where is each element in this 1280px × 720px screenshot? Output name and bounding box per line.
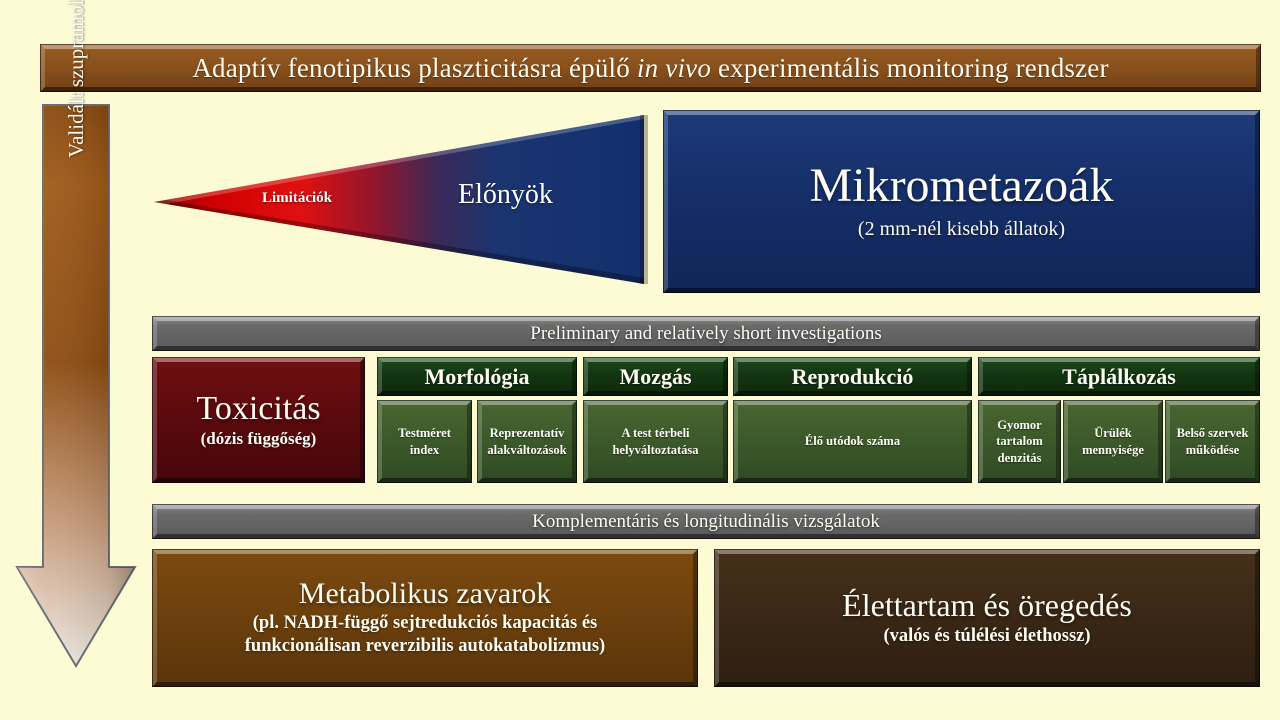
metabolic-disorders-box: Metabolikus zavarok (pl. NADH-függő sejt…	[152, 549, 698, 687]
group-item-label: Ürülék mennyisége	[1068, 425, 1158, 458]
diagram-title: Adaptív fenotipikus plaszticitásra épülő…	[192, 53, 1108, 84]
group-header-reprodukcio: Reprodukció	[733, 357, 972, 396]
complementary-investigations-band: Komplementáris és longitudinális vizsgál…	[152, 504, 1260, 539]
group-header-label: Reprodukció	[792, 364, 914, 390]
group-item-label: Élő utódok száma	[805, 433, 900, 450]
funnel-shape-icon	[152, 112, 652, 287]
group-item-urulek-mennyisege: Ürülék mennyisége	[1063, 400, 1163, 483]
toxicity-heading: Toxicitás	[196, 391, 320, 427]
title-text-after: experimentális monitoring rendszer	[711, 53, 1109, 83]
limitations-benefits-funnel: Limitációk Előnyök	[152, 112, 652, 287]
metabolic-subheading-line2: funkcionálisan reverzibilis autokataboli…	[245, 635, 605, 658]
micrometazoa-heading: Mikrometazoák	[810, 162, 1114, 211]
lifespan-aging-box: Élettartam és öregedés (valós és túlélés…	[714, 549, 1260, 687]
group-header-label: Mozgás	[619, 364, 691, 390]
group-item-label: Reprezentatív alakváltozások	[482, 425, 572, 458]
funnel-limitations-label: Limitációk	[262, 190, 332, 207]
metabolic-heading: Metabolikus zavarok	[299, 578, 551, 610]
preliminary-investigations-label: Preliminary and relatively short investi…	[530, 323, 881, 345]
group-item-belso-szervek-mukodese: Belső szervek működése	[1165, 400, 1260, 483]
group-header-taplalkozas: Táplálkozás	[978, 357, 1260, 396]
arrow-shape-icon	[14, 103, 138, 669]
funnel-benefits-label: Előnyök	[458, 179, 553, 211]
group-item-label: Gyomor tartalom denzitás	[983, 417, 1056, 467]
diagram-canvas: Adaptív fenotipikus plaszticitásra épülő…	[0, 0, 1280, 720]
diagram-title-bar: Adaptív fenotipikus plaszticitásra épülő…	[40, 44, 1261, 92]
toxicity-subheading: (dózis függőség)	[201, 429, 317, 449]
toxicity-box: Toxicitás (dózis függőség)	[152, 357, 365, 483]
high-throughput-screening-arrow: Validált szupramolekuláris high–throughp…	[14, 103, 138, 669]
group-item-test-terbeli-helyvaltoztatasa: A test térbeli helyváltoztatása	[583, 400, 728, 483]
complementary-investigations-label: Komplementáris és longitudinális vizsgál…	[532, 511, 880, 533]
group-item-reprezentativ-alakvaltozasok: Reprezentatív alakváltozások	[477, 400, 577, 483]
group-item-label: A test térbeli helyváltoztatása	[588, 425, 723, 458]
group-header-label: Morfológia	[424, 364, 529, 390]
metabolic-subheading-line1: (pl. NADH-függő sejtredukciós kapacitás …	[253, 612, 597, 635]
group-item-gyomor-tartalom-denzitas: Gyomor tartalom denzitás	[978, 400, 1061, 483]
group-item-elo-utodok-szama: Élő utódok száma	[733, 400, 972, 483]
title-text-italic: in vivo	[637, 53, 711, 83]
group-header-label: Táplálkozás	[1062, 364, 1176, 390]
micrometazoa-box: Mikrometazoák (2 mm-nél kisebb állatok)	[663, 110, 1260, 293]
group-item-testmeret-index: Testméret index	[377, 400, 472, 483]
lifespan-subheading: (valós és túlélési élethossz)	[883, 626, 1090, 647]
title-text-before: Adaptív fenotipikus plaszticitásra épülő	[192, 53, 637, 83]
micrometazoa-subheading: (2 mm-nél kisebb állatok)	[858, 218, 1065, 241]
group-item-label: Belső szervek működése	[1170, 425, 1255, 458]
group-header-morfologia: Morfológia	[377, 357, 577, 396]
preliminary-investigations-band: Preliminary and relatively short investi…	[152, 316, 1260, 351]
group-item-label: Testméret index	[382, 425, 467, 458]
lifespan-heading: Élettartam és öregedés	[842, 589, 1132, 623]
group-header-mozgas: Mozgás	[583, 357, 728, 396]
